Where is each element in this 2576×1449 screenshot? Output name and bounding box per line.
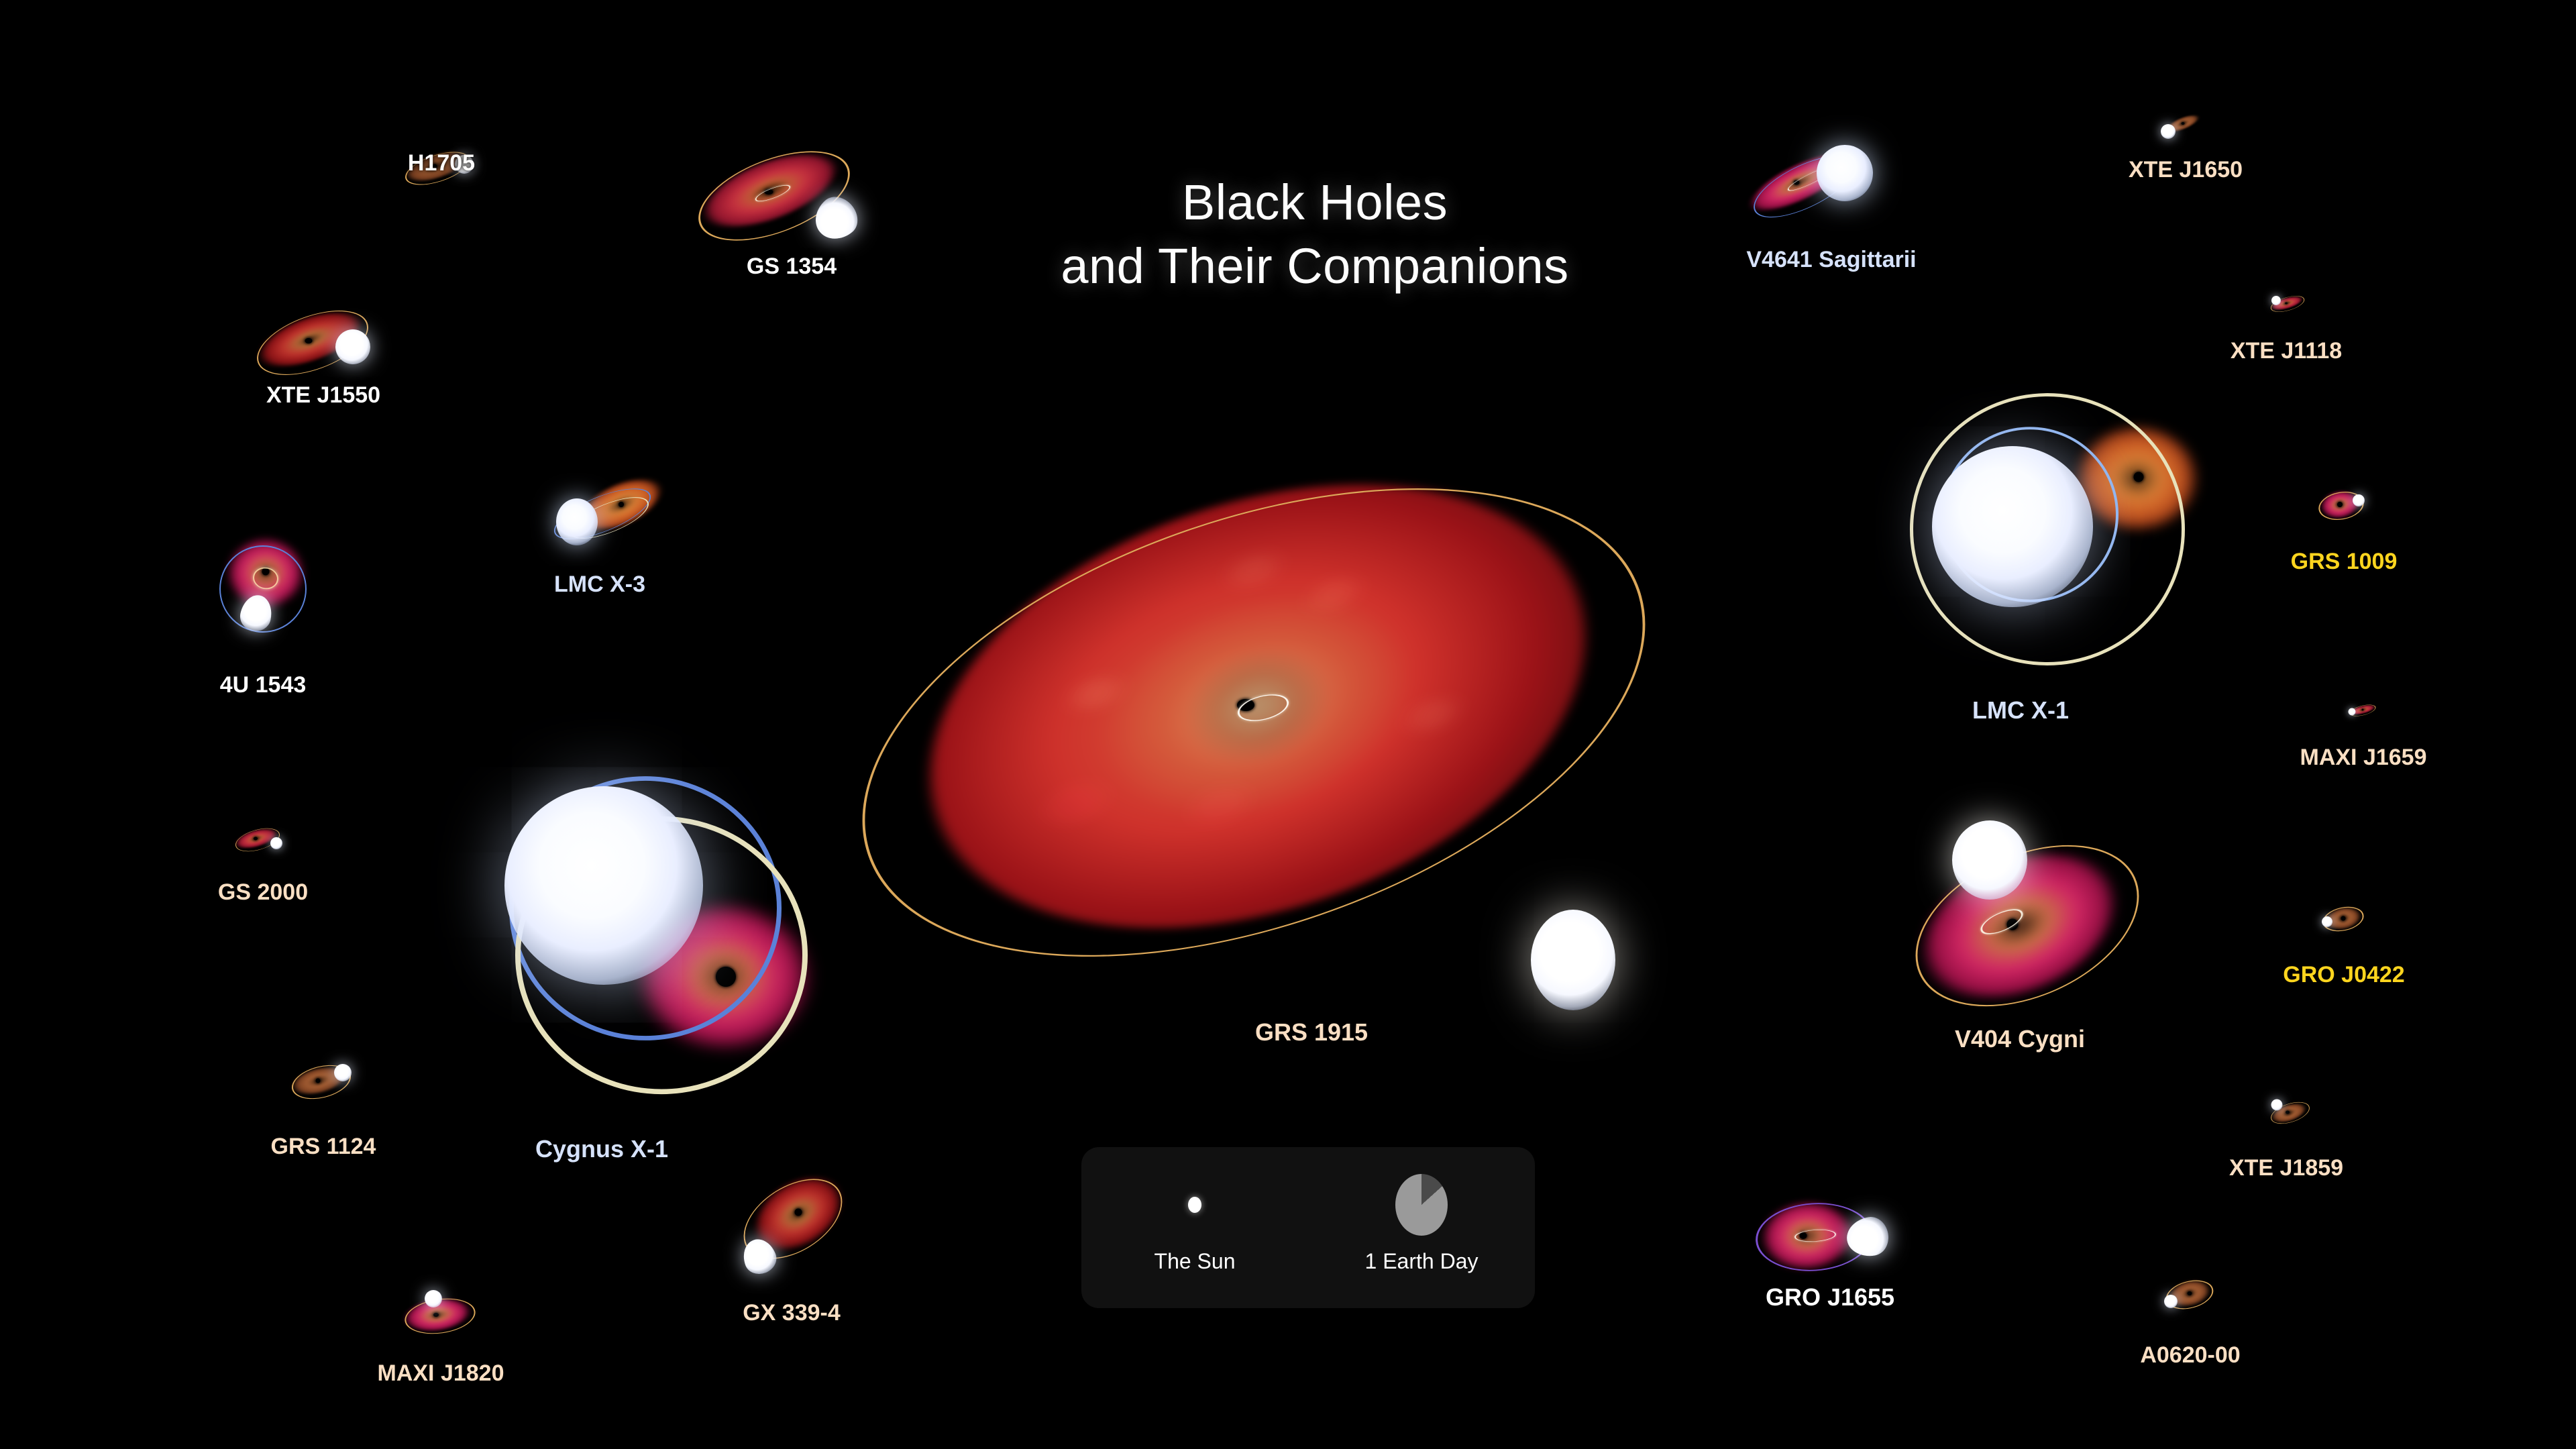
label-gs1354: GS 1354 (747, 254, 837, 280)
orbit-ellipse-icon (288, 1059, 355, 1104)
page-title: Black Holes and Their Companions (1033, 171, 1597, 298)
orbit-ellipse-icon (219, 545, 307, 633)
label-grs1915: GRS 1915 (1255, 1018, 1368, 1046)
label-h1705: H1705 (408, 150, 475, 176)
companion-star-icon (556, 498, 598, 545)
title-line-1: Black Holes (1182, 174, 1448, 230)
label-xte-j1650: XTE J1650 (2129, 157, 2243, 183)
accretion-disk-icon (1904, 828, 2135, 1024)
label-maxi-j1659: MAXI J1659 (2300, 745, 2427, 771)
label-4u1543: 4U 1543 (220, 672, 307, 698)
orbit-arc-cream-wrap (504, 814, 819, 1096)
label-gro-j0422: GRO J0422 (2283, 962, 2404, 988)
companion-star-icon (335, 329, 370, 364)
label-grs1009: GRS 1009 (2291, 549, 2398, 575)
companion-star-icon (2271, 296, 2281, 305)
label-lmc-x3: LMC X-3 (554, 572, 645, 598)
label-gx339-4: GX 339-4 (743, 1300, 841, 1326)
legend-label-sun: The Sun (1155, 1249, 1236, 1274)
orbit-ellipse-icon (1890, 813, 2163, 1038)
companion-star-icon (2322, 916, 2332, 927)
black-hole-icon (2188, 1291, 2192, 1295)
orbit-ellipse-icon (233, 824, 282, 856)
companion-star-icon (237, 592, 275, 634)
orbit-ellipse-icon (2268, 1098, 2312, 1128)
companion-star-icon (2271, 1099, 2283, 1111)
sun-dot-icon (1188, 1197, 1201, 1213)
orbit-ellipse-icon (2269, 292, 2306, 315)
label-xte-j1859: XTE J1859 (2229, 1155, 2343, 1181)
label-maxi-j1820: MAXI J1820 (378, 1360, 504, 1387)
scale-legend-panel: The Sun 1 Earth Day (1081, 1147, 1535, 1308)
black-hole-icon (305, 338, 313, 343)
label-v4641-sagittarii: V4641 Sagittarii (1746, 247, 1916, 273)
black-hole-icon (433, 1313, 439, 1317)
earth-day-pie-icon (1395, 1174, 1448, 1236)
label-xte-j1550: XTE J1550 (266, 382, 380, 409)
orbit-ellipse-icon (402, 1294, 478, 1338)
companion-star-icon (739, 1234, 781, 1278)
label-gro-j1655: GRO J1655 (1766, 1283, 1894, 1311)
black-hole-icon (2362, 709, 2364, 711)
title-line-2: and Their Companions (1033, 235, 1597, 299)
black-hole-icon (2337, 502, 2343, 507)
legend-label-earth-day: 1 Earth Day (1365, 1249, 1479, 1274)
legend-item-earth-day: 1 Earth Day (1308, 1147, 1535, 1308)
label-lmc-x1: LMC X-1 (1972, 696, 2069, 724)
companion-star-icon (334, 1064, 352, 1081)
orbit-ellipse-secondary-icon (515, 816, 808, 1094)
companion-star-icon (806, 189, 865, 248)
label-xte-j1118: XTE J1118 (2231, 338, 2342, 364)
companion-star-icon (1843, 1214, 1891, 1260)
photon-ring-icon (251, 566, 280, 591)
photon-ring-icon (1794, 1228, 1836, 1243)
orbit-ellipse-icon (730, 1163, 857, 1275)
black-hole-icon (619, 502, 624, 507)
companion-star-icon (425, 1290, 442, 1307)
black-hole-icon (2341, 916, 2346, 921)
orbit-arc-blue-wrap (1936, 414, 2124, 615)
companion-star-icon (1531, 910, 1615, 1010)
black-hole-icon (795, 1209, 802, 1216)
label-grs1124: GRS 1124 (271, 1134, 376, 1160)
black-hole-icon (254, 837, 258, 841)
companion-star-icon (2349, 708, 2356, 716)
photon-ring-icon (1786, 163, 1837, 195)
label-a0620-00: A0620-00 (2140, 1342, 2240, 1368)
black-hole-icon (2182, 122, 2185, 125)
companion-star-icon (2161, 124, 2176, 139)
legend-item-sun: The Sun (1081, 1147, 1308, 1308)
black-hole-icon (316, 1079, 321, 1083)
orbit-ellipse-secondary-icon (565, 489, 654, 547)
orbit-ellipse-icon (249, 298, 377, 388)
label-gs2000: GS 2000 (218, 879, 308, 906)
black-hole-icon (2285, 303, 2288, 305)
orbit-ellipse-icon (548, 478, 657, 549)
photon-ring-icon (1977, 904, 2026, 940)
photon-ring-icon (753, 182, 792, 205)
sky-canvas: Black Holes and Their Companions (0, 0, 2576, 1449)
orbit-ellipse-secondary-icon (1941, 427, 2118, 602)
label-v404-cygni: V404 Cygni (1955, 1025, 2085, 1053)
companion-star-icon (2353, 494, 2365, 506)
companion-star-icon (1952, 820, 2027, 900)
label-cygnus-x1: Cygnus X-1 (535, 1135, 668, 1163)
companion-star-icon (2164, 1295, 2178, 1308)
companion-star-icon (270, 837, 282, 849)
black-hole-icon (2286, 1111, 2290, 1114)
